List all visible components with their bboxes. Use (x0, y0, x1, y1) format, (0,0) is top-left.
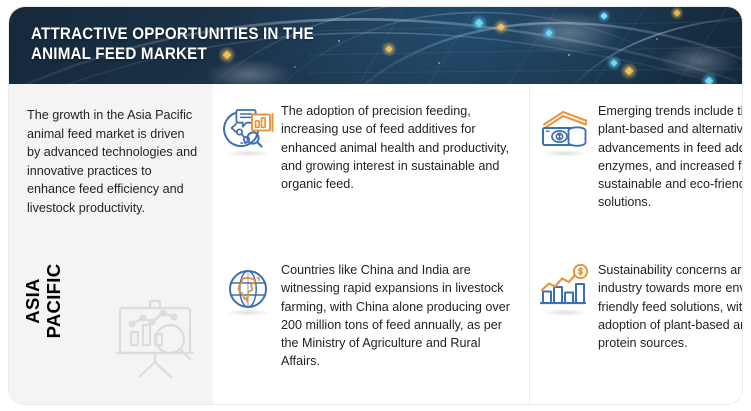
insight-text: Sustainability concerns are pushing the … (598, 261, 743, 352)
icon-shadow (225, 309, 271, 316)
icon-shadow (542, 150, 588, 157)
insight-block: The adoption of precision feeding, incre… (213, 88, 529, 247)
globe-icon (222, 263, 274, 315)
page-title: Attractive Opportunities in the Animal F… (31, 24, 427, 64)
insight-text: Countries like China and India are witne… (281, 261, 518, 371)
money-banknote-coins-icon (539, 104, 591, 156)
insight-text: Emerging trends include the adoption of … (598, 102, 743, 212)
region-panel: The growth in the Asia Pacific animal fe… (9, 84, 213, 405)
insight-block: Countries like China and India are witne… (213, 247, 529, 405)
region-label: ASIA PACIFIC (22, 237, 64, 365)
insight-block: Emerging trends include the adoption of … (530, 88, 743, 247)
content-area: The growth in the Asia Pacific animal fe… (9, 84, 743, 405)
intro-text: The growth in the Asia Pacific animal fe… (27, 106, 199, 217)
icon-shadow (225, 150, 271, 157)
column-middle: The adoption of precision feeding, incre… (213, 84, 529, 405)
column-right: Emerging trends include the adoption of … (529, 84, 743, 405)
precision-analytics-icon (222, 104, 274, 156)
header-banner: Attractive Opportunities in the Animal F… (9, 7, 743, 84)
presentation-chart-magnifier-icon (111, 294, 203, 382)
infographic-card: Attractive Opportunities in the Animal F… (8, 6, 743, 405)
insight-block: Sustainability concerns are pushing the … (530, 247, 743, 405)
insight-text: The adoption of precision feeding, incre… (281, 102, 518, 193)
blocks-grid: The adoption of precision feeding, incre… (213, 84, 743, 405)
icon-shadow (542, 309, 588, 316)
growth-bar-chart-dollar-icon (539, 263, 591, 315)
